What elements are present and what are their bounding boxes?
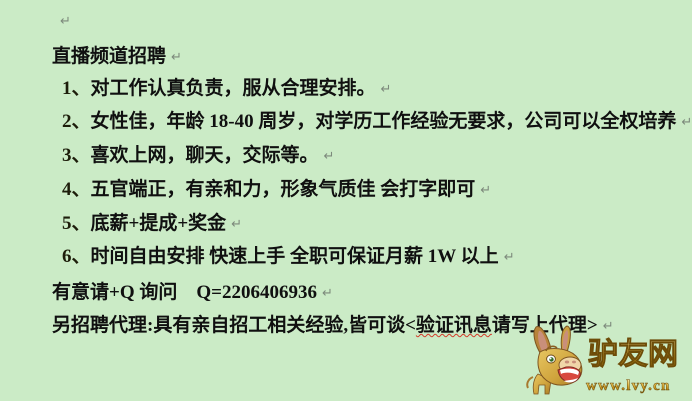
paragraph-mark-icon: ↵ <box>226 217 242 232</box>
list-item: 5、底薪+提成+奖金↵ <box>62 208 242 235</box>
list-item: 3、喜欢上网，聊天，交际等。↵ <box>62 140 334 167</box>
list-item-number: 3、 <box>62 145 91 166</box>
page-title: 直播频道招聘↵ <box>52 41 182 68</box>
contact-line: 有意请+Q 询问 Q=2206406936↵ <box>52 277 333 304</box>
paragraph-mark-icon: ↵ <box>60 14 71 29</box>
list-item: 1、对工作认真负责，服从合理安排。↵ <box>62 73 391 100</box>
paragraph-mark-icon: ↵ <box>499 250 515 265</box>
list-item-label: 五官端正，有亲和力，形象气质佳 会打字即可 <box>91 179 476 200</box>
list-item-label: 底薪+提成+奖金 <box>91 213 227 234</box>
paragraph-mark-icon: ↵ <box>475 183 491 198</box>
watermark-svg: 驴友网 www.lvy.cn <box>524 322 692 401</box>
list-item-number: 2、 <box>62 111 91 132</box>
list-item: 4、五官端正，有亲和力，形象气质佳 会打字即可↵ <box>62 174 491 201</box>
watermark-logo: 驴友网 www.lvy.cn <box>524 322 692 401</box>
page-title-text: 直播频道招聘 <box>52 46 166 67</box>
paragraph-mark-icon: ↵ <box>376 82 392 97</box>
list-item-number: 6、 <box>62 246 91 267</box>
list-item-label: 女性佳，年龄 18-40 周岁，对学历工作经验无要求，公司可以全权培养 <box>91 111 677 132</box>
list-item: 2、女性佳，年龄 18-40 周岁，对学历工作经验无要求，公司可以全权培养↵ <box>62 106 692 133</box>
list-item-number: 5、 <box>62 213 91 234</box>
donkey-mascot-icon <box>527 326 582 394</box>
paragraph-mark-icon: ↵ <box>166 50 182 65</box>
list-item-label: 时间自由安排 快速上手 全职可保证月薪 1W 以上 <box>91 246 499 267</box>
list-item-number: 4、 <box>62 179 91 200</box>
list-item: 6、时间自由安排 快速上手 全职可保证月薪 1W 以上↵ <box>62 241 515 268</box>
paragraph-mark-icon: ↵ <box>319 149 335 164</box>
list-item-label: 喜欢上网，聊天，交际等。 <box>91 145 319 166</box>
list-item-label: 对工作认真负责，服从合理安排。 <box>91 78 376 99</box>
paragraph-mark-icon: ↵ <box>676 115 692 130</box>
agent-line-prefix: 另招聘代理:具有亲自招工相关经验,皆可谈< <box>52 315 416 336</box>
list-item-number: 1、 <box>62 78 91 99</box>
watermark-url-text: www.lvy.cn <box>586 378 671 394</box>
spellcheck-misspelled-text: 验证讯息 <box>416 315 492 336</box>
paragraph-mark-icon: ↵ <box>317 286 333 301</box>
contact-qq-text: 有意请+Q 询问 Q=2206406936 <box>52 282 317 303</box>
watermark-brand-text: 驴友网 <box>588 337 678 372</box>
document-page: ↵ 直播频道招聘↵ 1、对工作认真负责，服从合理安排。↵ 2、女性佳，年龄 18… <box>0 0 692 401</box>
